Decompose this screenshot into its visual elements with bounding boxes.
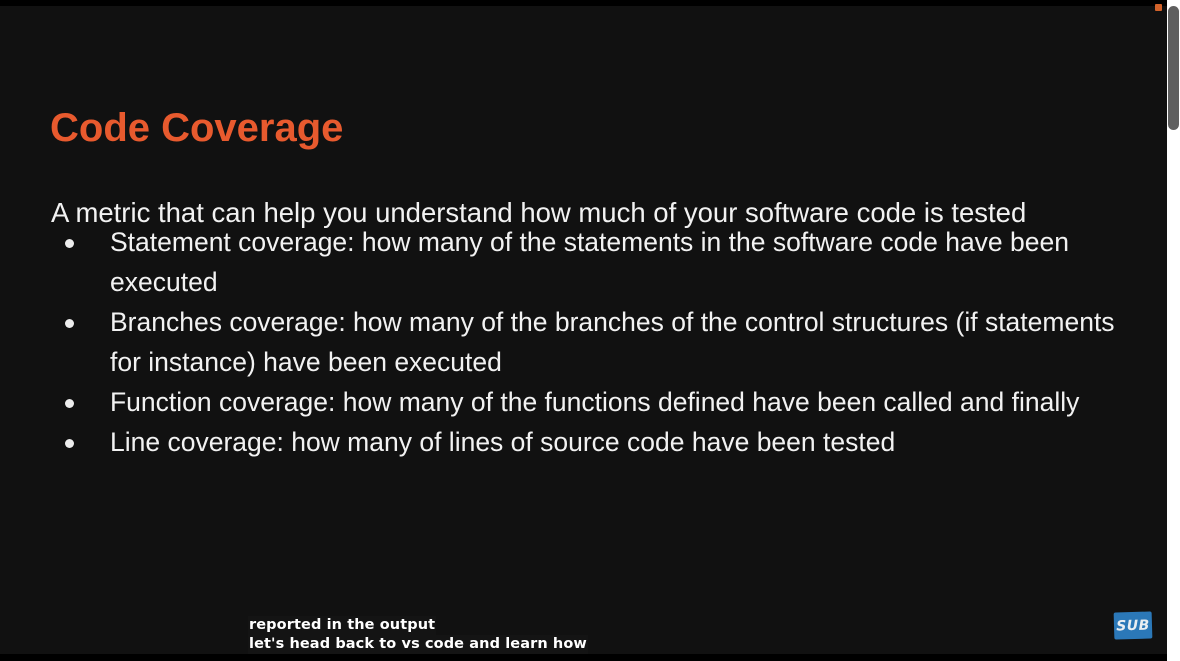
vertical-scrollbar-thumb[interactable] (1168, 6, 1179, 130)
caption-overlay: reported in the output let's head back t… (248, 616, 588, 654)
bullet-dot-icon (65, 399, 74, 408)
list-item: Function coverage: how many of the funct… (51, 382, 1121, 422)
slide-canvas: Code Coverage A metric that can help you… (0, 6, 1167, 654)
list-item: Line coverage: how many of lines of sour… (51, 422, 1121, 462)
list-item-label: Branches coverage: how many of the branc… (110, 307, 1115, 377)
list-item: Statement coverage: how many of the stat… (51, 222, 1121, 302)
coverage-bullet-list: Statement coverage: how many of the stat… (51, 222, 1121, 462)
recording-indicator-dot (1155, 4, 1162, 11)
caption-line: reported in the output (248, 616, 436, 635)
subtitles-badge-label: SUB (1116, 617, 1150, 634)
caption-line: let's head back to vs code and learn how (248, 635, 588, 654)
vertical-scrollbar[interactable] (1167, 0, 1180, 661)
list-item-label: Statement coverage: how many of the stat… (110, 227, 1069, 297)
list-item-label: Line coverage: how many of lines of sour… (110, 427, 895, 457)
list-item-label: Function coverage: how many of the funct… (110, 387, 1079, 417)
page-title: Code Coverage (50, 104, 343, 152)
slide-player: Code Coverage A metric that can help you… (0, 0, 1180, 661)
bullet-dot-icon (65, 319, 74, 328)
bullet-dot-icon (65, 239, 74, 248)
list-item: Branches coverage: how many of the branc… (51, 302, 1121, 382)
bullet-dot-icon (65, 439, 74, 448)
subtitles-badge[interactable]: SUB (1114, 611, 1153, 639)
